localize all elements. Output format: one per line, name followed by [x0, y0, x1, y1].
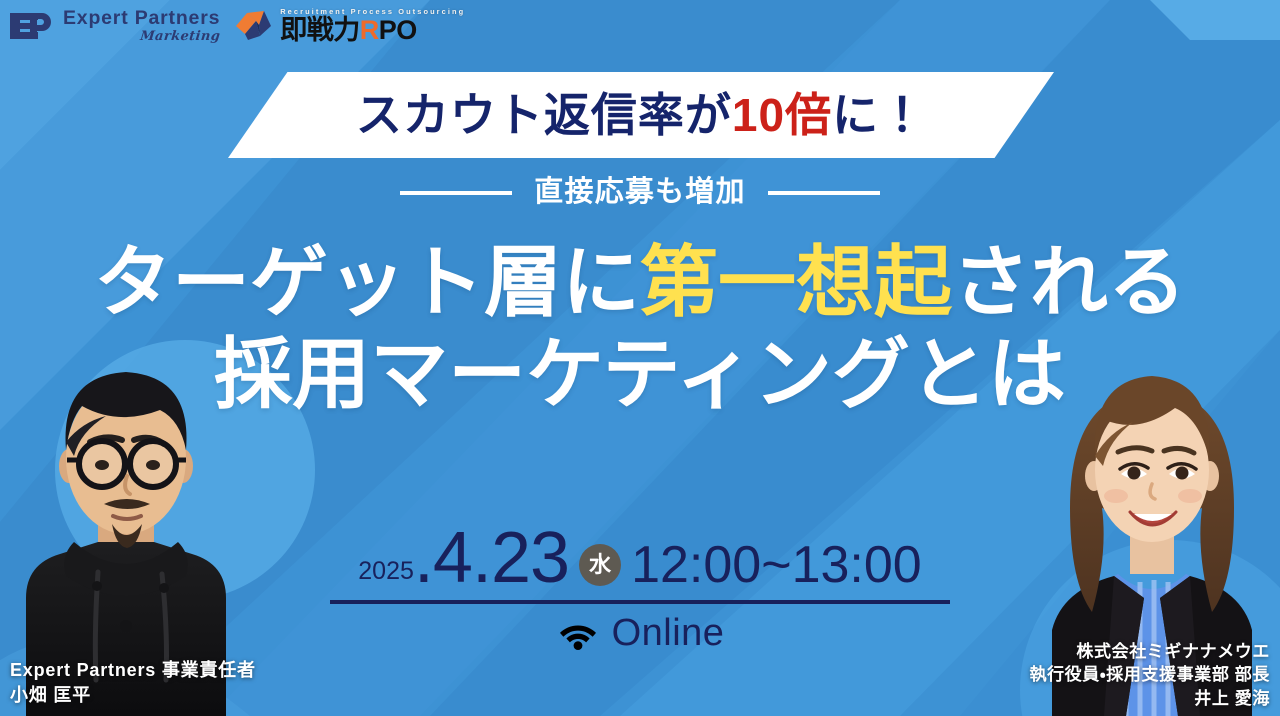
event-date-row: 2025 . 4 . 23 水 12:00~13:00: [358, 522, 921, 594]
webinar-banner: Expert Partners Marketing Recruitment Pr…: [0, 0, 1280, 716]
headline-line1-part-b: される: [952, 238, 1186, 326]
speaker-right-name: 井上 愛海: [1029, 687, 1270, 710]
rpo-envelope-icon: [234, 9, 274, 43]
speaker-credit-left: Expert Partners 事業責任者 小畑 匡平: [10, 658, 256, 708]
event-details: 2025 . 4 . 23 水 12:00~13:00 Online: [0, 522, 1280, 652]
subtitle-row: 直接応募も増加: [0, 178, 1280, 207]
event-weekday-badge: 水: [579, 544, 621, 586]
event-time: 12:00~13:00: [631, 539, 922, 594]
speaker-left-name: 小畑 匡平: [10, 683, 256, 708]
highlight-ribbon: スカウト返信率が10倍に！: [228, 72, 1054, 158]
event-format-row: Online: [556, 614, 725, 652]
event-month: 4: [433, 522, 472, 594]
rpo-name-prefix: 即戦力: [280, 15, 360, 45]
rpo-name-accent: R: [360, 15, 379, 45]
event-dot-1: .: [414, 522, 433, 594]
sokusenryoku-rpo-logo: Recruitment Process Outsourcing 即戦力RPO: [234, 8, 465, 44]
speaker-right-company: 株式会社ミギナナメウエ: [1029, 640, 1270, 663]
speaker-right-role: 執行役員・採用支援事業部 部長: [1029, 663, 1270, 686]
event-dot-2: .: [472, 522, 491, 594]
rpo-name-suffix: PO: [379, 15, 417, 45]
headline-line-2: 採用マーケティングとは: [0, 328, 1280, 420]
event-year: 2025: [358, 559, 414, 594]
ep-logo-name: Expert Partners: [63, 9, 220, 29]
expert-partners-logo: Expert Partners Marketing: [8, 9, 220, 44]
ribbon-text-highlight: 10倍: [732, 89, 832, 141]
event-day: 23: [491, 522, 569, 594]
ribbon-text-after: に！: [832, 89, 926, 141]
rpo-logo-tagline: Recruitment Process Outsourcing: [280, 8, 465, 15]
headline-line-1: ターゲット層に第一想起される: [0, 236, 1280, 328]
subtitle-rule-left: [400, 191, 512, 195]
speaker-left-org-role: Expert Partners 事業責任者: [10, 658, 256, 683]
headline-line1-part-a: ターゲット層に: [94, 238, 640, 326]
header-logos: Expert Partners Marketing Recruitment Pr…: [0, 0, 465, 52]
headline-line1-highlight: 第一想起: [640, 238, 952, 326]
ep-logo-subtitle: Marketing: [62, 30, 221, 43]
main-headline: ターゲット層に第一想起される 採用マーケティングとは: [0, 236, 1280, 420]
rpo-logo-name: 即戦力RPO: [280, 17, 465, 44]
event-format-label: Online: [612, 614, 725, 652]
subtitle-text: 直接応募も増加: [534, 178, 745, 207]
speaker-credit-right: 株式会社ミギナナメウエ 執行役員・採用支援事業部 部長 井上 愛海: [1029, 640, 1270, 710]
ribbon-text: スカウト返信率が10倍に！: [356, 92, 926, 138]
event-divider: [330, 600, 950, 604]
subtitle-rule-right: [768, 191, 880, 195]
wifi-icon: [556, 616, 600, 650]
ribbon-text-before: スカウト返信率が: [356, 89, 732, 141]
ep-monogram-icon: [8, 9, 54, 43]
